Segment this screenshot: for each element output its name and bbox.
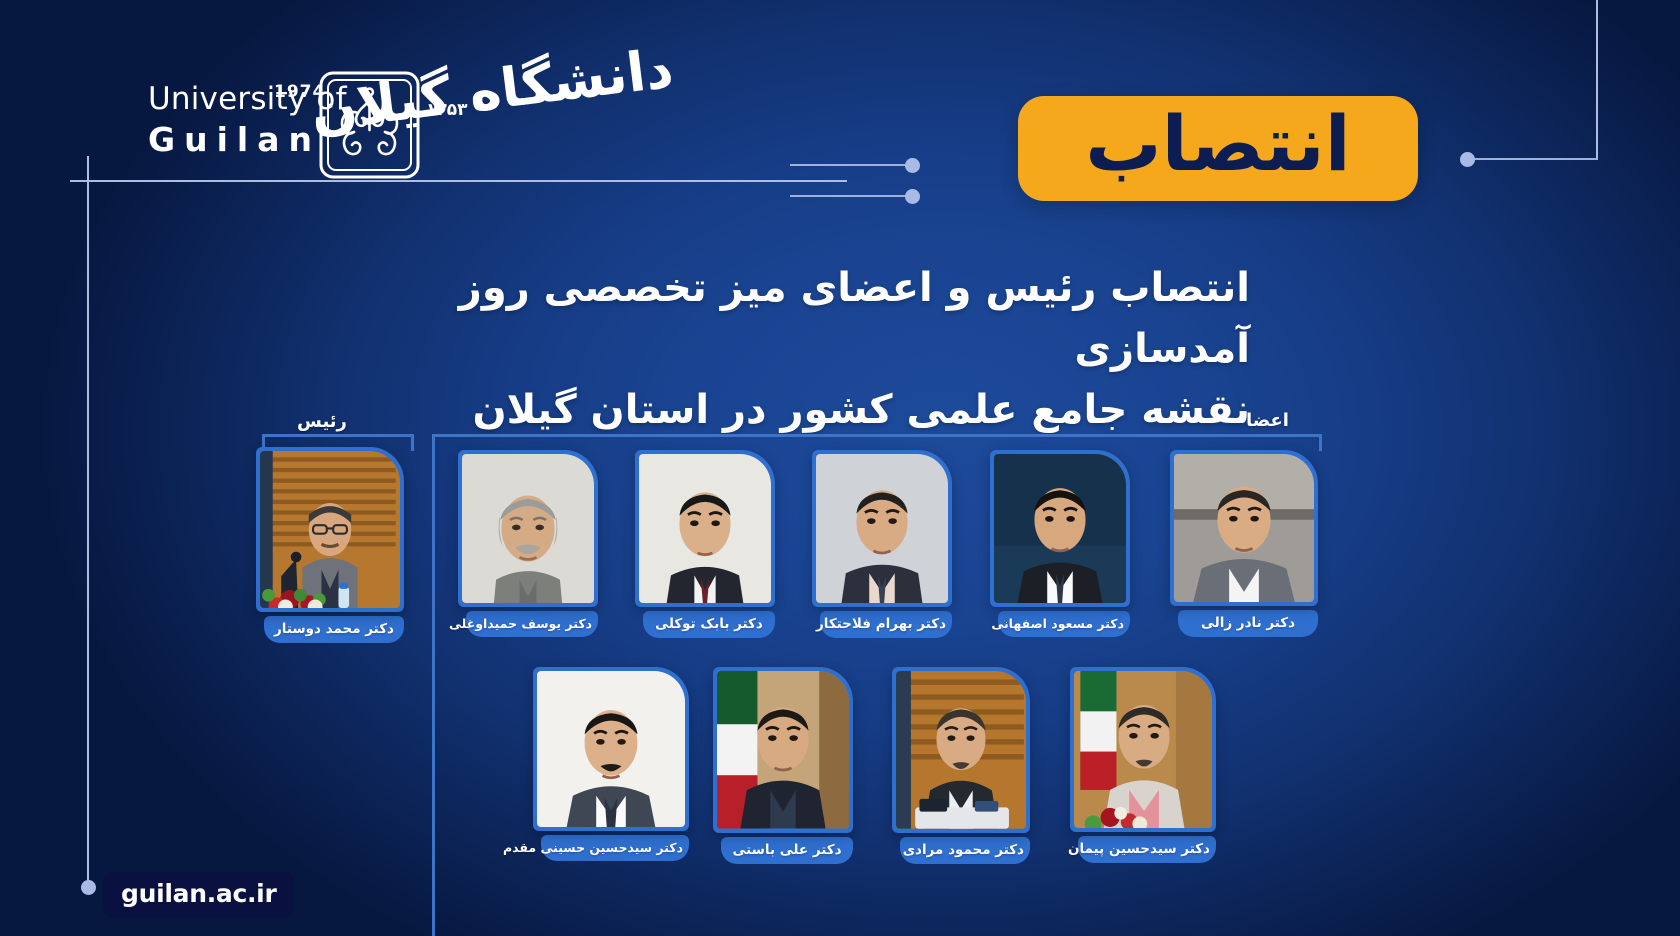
portrait-photo-bahram-falahatkar (816, 454, 948, 603)
website-url-pill[interactable]: guilan.ac.ir (103, 872, 294, 917)
photo-frame (990, 450, 1130, 607)
person-name: دکتر محمد دوستار (264, 616, 404, 643)
portrait-photo-seyed-hossein-peyman (1074, 671, 1212, 828)
deco-line-right-vertical (1596, 0, 1598, 158)
page-title-line-1: انتصاب رئیس و اعضای میز تخصصی روز آمدساز… (420, 258, 1250, 380)
website-url-text: guilan.ac.ir (121, 879, 276, 908)
deco-line-top-horizontal (70, 180, 847, 182)
portrait-photo-mahmoud-moradi (896, 671, 1026, 829)
group-label-members: اعضا (1246, 410, 1289, 431)
person-card-member-4[interactable]: دکتر مسعود اصفهانی (998, 450, 1130, 637)
person-card-member-6[interactable]: دکتر سیدحسین حسینی مقدم (541, 667, 689, 861)
photo-frame (458, 450, 598, 607)
deco-dot-mid-a (905, 158, 920, 173)
portrait-photo-ali-basti (717, 671, 849, 829)
person-name: دکتر یوسف حمیداوغلی (466, 611, 598, 637)
university-logo: University of Guilan 1974 ۱۳۵۳ دانشگاه گ… (148, 60, 678, 180)
group-label-chair: رئیس (297, 411, 347, 432)
person-card-member-8[interactable]: دکتر محمود مرادی (900, 667, 1030, 864)
person-card-member-1[interactable]: دکتر یوسف حمیداوغلی (466, 450, 598, 637)
deco-line-mid-a (790, 164, 908, 166)
person-name: دکتر سیدحسین حسینی مقدم (541, 835, 689, 861)
portrait-photo-seyed-hossein-hosseini-moghaddam (537, 671, 685, 827)
page-title: انتصاب رئیس و اعضای میز تخصصی روز آمدساز… (420, 258, 1250, 440)
person-name: دکتر بهرام فلاحتکار (820, 611, 952, 638)
appointment-badge-label: انتصاب (1085, 106, 1350, 192)
person-name: دکتر سیدحسین پیمان (1078, 836, 1216, 863)
logo-persian-text: دانشگاه گیلان (430, 28, 683, 174)
person-card-member-5[interactable]: دکتر نادر زالی (1178, 450, 1318, 637)
deco-line-left-vertical (87, 156, 89, 881)
person-card-member-9[interactable]: دکتر سیدحسین پیمان (1078, 667, 1216, 863)
portrait-photo-yousef-hamidoghli (462, 454, 594, 603)
person-name: دکتر مسعود اصفهانی (998, 611, 1130, 637)
portrait-photo-babak-tavakoli (639, 454, 771, 603)
person-card-member-7[interactable]: دکتر علی باستی (721, 667, 853, 864)
portrait-photo-masoud-esfahani (994, 454, 1126, 603)
page-title-line-2: نقشه جامع علمی کشور در استان گیلان (420, 380, 1250, 441)
photo-frame (256, 447, 404, 612)
portrait-photo-mohammad-doostar (260, 451, 400, 608)
person-card-member-2[interactable]: دکتر بابک توکلی (643, 450, 775, 638)
person-name: دکتر بابک توکلی (643, 611, 775, 638)
bracket-members-stem (432, 446, 435, 936)
photo-frame (713, 667, 853, 833)
poster-canvas: University of Guilan 1974 ۱۳۵۳ دانشگاه گ… (0, 0, 1680, 936)
portrait-photo-nader-zali (1174, 454, 1314, 602)
bracket-members (432, 434, 1322, 451)
photo-frame (812, 450, 952, 607)
photo-frame (892, 667, 1030, 833)
deco-dot-right (1460, 152, 1475, 167)
deco-dot-mid-b (905, 189, 920, 204)
person-name: دکتر علی باستی (721, 837, 853, 864)
photo-frame (533, 667, 689, 831)
person-card-member-3[interactable]: دکتر بهرام فلاحتکار (820, 450, 952, 638)
deco-dot-bottom-left (81, 880, 96, 895)
person-name: دکتر نادر زالی (1178, 610, 1318, 637)
photo-frame (635, 450, 775, 607)
deco-line-right-horizontal (1472, 158, 1598, 160)
photo-frame (1170, 450, 1318, 606)
person-name: دکتر محمود مرادی (900, 837, 1030, 864)
appointment-badge: انتصاب (1018, 96, 1418, 201)
photo-frame (1070, 667, 1216, 832)
person-card-chair[interactable]: دکتر محمد دوستار (264, 447, 404, 643)
deco-line-mid-b (790, 195, 908, 197)
